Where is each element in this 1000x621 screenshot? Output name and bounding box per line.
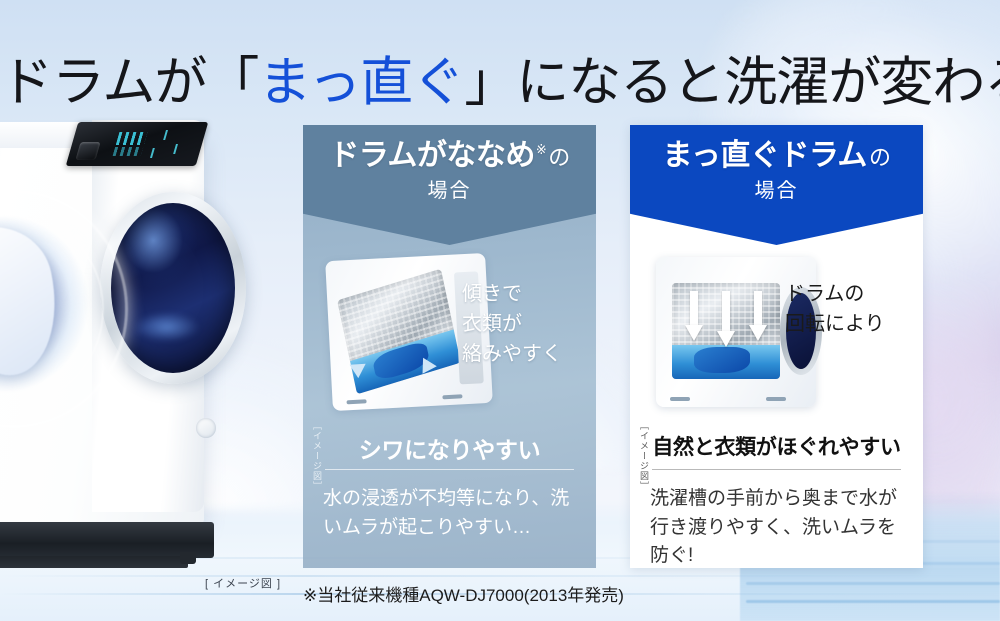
straight-drum-flow-arrow-2 xyxy=(717,331,735,347)
panel-tilted-drum-lead: シワになりやすい xyxy=(303,431,596,465)
panel-tilted-drum-body: ［イメージ図］ 傾きで 衣類が 絡みやすく シワになりやすい xyxy=(303,245,596,568)
straight-drum-laundry xyxy=(694,347,750,373)
straight-drum-cutaway xyxy=(672,283,780,379)
panel-straight-drum-header-main-line: まっ直ぐドラムの xyxy=(630,125,923,171)
product-image-note: [ イメージ図 ] xyxy=(205,575,281,591)
straight-drum-flow-arrow-3 xyxy=(749,325,767,341)
footnote-reference: ※当社従来機種AQW-DJ7000(2013年発売) xyxy=(303,581,624,606)
panel-tilted-drum-header: ドラムがななめ※の 場合 xyxy=(303,125,596,245)
page-title-highlight: まっ直ぐ xyxy=(258,52,464,113)
asterisk-reference-icon: ※ xyxy=(536,143,546,158)
panel-tilted-drum-header-main-line: ドラムがななめ※の xyxy=(303,125,596,171)
panel-straight-drum-header-main: まっ直ぐドラム xyxy=(663,138,867,173)
washer-control-panel xyxy=(66,122,209,166)
panel-straight-drum-description: 洗濯槽の手前から奥まで水が行き渡りやすく、洗いムラを防ぐ! xyxy=(650,485,909,568)
panel-straight-drum: まっ直ぐドラムの 場合 ［イメージ図］ xyxy=(630,125,923,568)
washer-power-knob xyxy=(75,142,100,160)
product-photo-washing-machine xyxy=(0,118,304,588)
panel-straight-drum-divider xyxy=(652,469,901,470)
panel-straight-drum-header: まっ直ぐドラムの 場合 xyxy=(630,125,923,245)
washer-led-display xyxy=(116,132,148,145)
panel-tilted-drum-description: 水の浸透が不均等になり、洗いムラが起こりやすい… xyxy=(323,485,582,542)
tilted-drum-flow-arrow-right xyxy=(423,358,438,374)
panel-tilted-drum-header-main: ドラムがななめ xyxy=(329,138,535,173)
straight-drum-flow-arrow-1 xyxy=(685,325,703,341)
washer-led-display-secondary xyxy=(113,147,144,156)
panel-tilted-drum-caption: 傾きで 衣類が 絡みやすく xyxy=(462,279,590,369)
washer-door-glint xyxy=(134,312,200,342)
page-title: ドラムが「まっ直ぐ」になると洗濯が変わる xyxy=(0,56,1000,109)
panel-straight-drum-body: ［イメージ図］ xyxy=(630,245,923,568)
panel-tilted-drum-header-sub: 場合 xyxy=(303,181,596,201)
panel-straight-drum-caption: ドラムの 回転により xyxy=(785,279,921,339)
page-title-prefix: ドラムが「 xyxy=(0,52,258,113)
panel-tilted-drum-divider xyxy=(325,469,574,470)
washer-foot-right xyxy=(180,552,196,564)
advertisement-canvas: ドラムが「まっ直ぐ」になると洗濯が変わる [ イメージ図 ] ドラムがななめ※の xyxy=(0,0,1000,621)
panel-straight-drum-header-sub: 場合 xyxy=(630,181,923,201)
panel-straight-drum-lead: 自然と衣類がほぐれやすい xyxy=(630,431,923,461)
panel-tilted-drum: ドラムがななめ※の 場合 ［イメージ図］ 傾きで xyxy=(303,125,596,568)
panel-straight-drum-header-particle: の xyxy=(869,146,891,171)
washer-start-button xyxy=(196,418,216,438)
panel-tilted-drum-header-particle: の xyxy=(548,146,570,171)
page-title-suffix: 」になると洗濯が変わる xyxy=(464,52,1000,113)
